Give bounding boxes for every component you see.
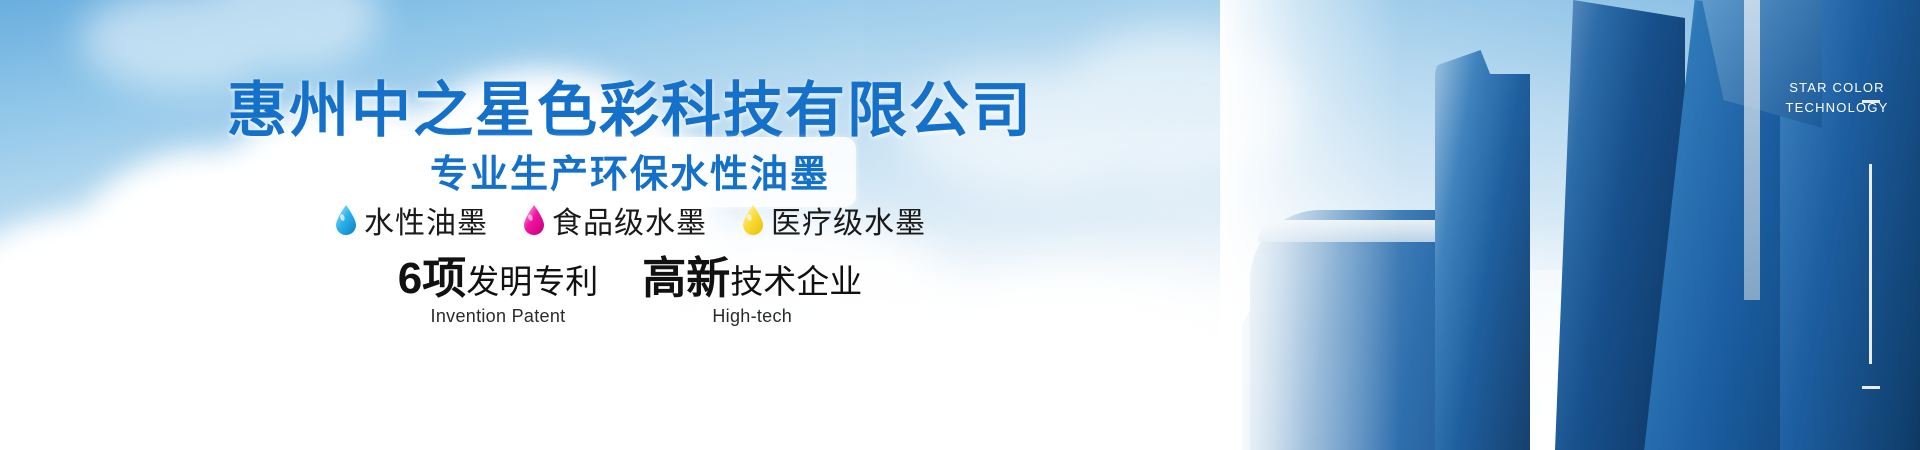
award-item-hightech: 高新技术企业 High-tech [642,256,862,327]
brandmark-line-2: TECHNOLOGY [1782,98,1892,118]
award-headline: 高新技术企业 [642,256,862,302]
brandmark: STAR COLOR TECHNOLOGY [1792,0,1912,450]
award-count: 6项 [398,254,466,303]
brandmark-text: STAR COLOR TECHNOLOGY [1782,78,1892,117]
subtitle-container: 专业生产环保水性油墨 [0,137,1260,207]
award-text-en: Invention Patent [398,306,598,327]
water-drop-icon [522,204,546,236]
feature-item: 医疗级水墨 [741,198,926,242]
feature-item: 食品级水墨 [522,198,707,242]
award-text-cn: 技术企业 [730,263,862,300]
award-text-en: High-tech [642,306,862,327]
award-list: 6项发明专利 Invention Patent 高新技术企业 High-tech [0,256,1260,327]
building-center-tower [1435,50,1530,450]
water-drop-icon [334,204,358,236]
feature-label: 食品级水墨 [552,198,707,242]
company-hero-banner: Star Color STAR COLOR TECHNOLOGY 惠州中之星色彩… [0,0,1920,450]
banner-content: 惠州中之星色彩科技有限公司 专业生产环保水性油墨 [0,0,1260,450]
feature-label: 水性油墨 [364,198,488,242]
award-item-patent: 6项发明专利 Invention Patent [398,256,598,327]
award-text-cn: 发明专利 [466,263,598,300]
subtitle-badge: 专业生产环保水性油墨 [404,137,856,207]
water-drop-icon [741,204,765,236]
brandmark-line-1: STAR COLOR [1782,78,1892,98]
building-pillar [1744,0,1760,300]
feature-label: 医疗级水墨 [771,198,926,242]
feature-item: 水性油墨 [334,198,488,242]
award-headline: 6项发明专利 [398,256,598,302]
brandmark-vertical-line [1869,164,1872,364]
award-count: 高新 [642,254,730,303]
company-title: 惠州中之星色彩科技有限公司 [0,62,1260,149]
brandmark-dash-bottom [1862,386,1880,389]
feature-list: 水性油墨 食品级水墨 [0,198,1260,242]
